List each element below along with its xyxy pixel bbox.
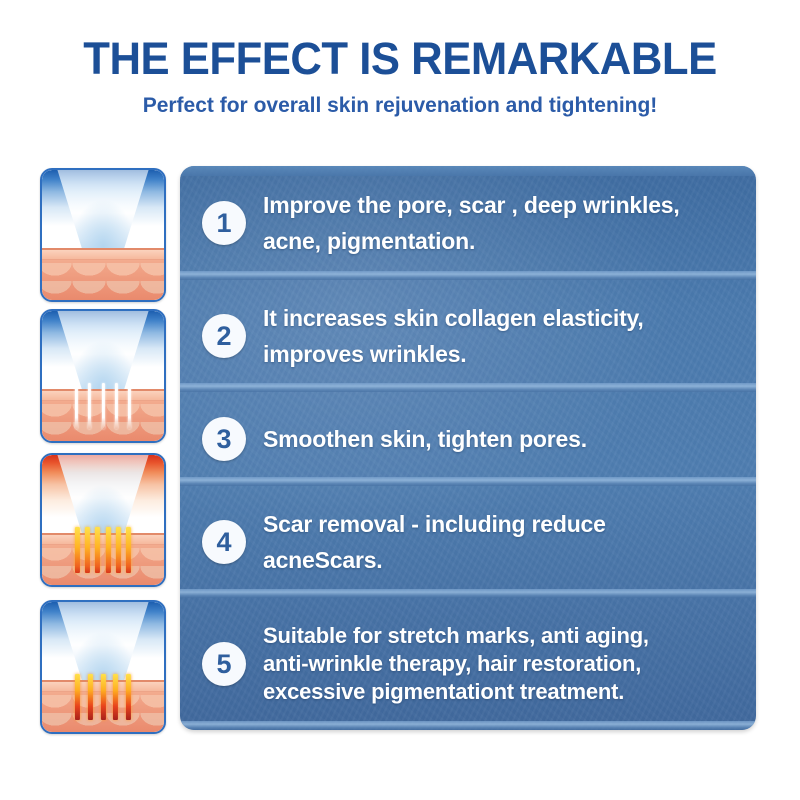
feature-text-line: Suitable for stretch marks, anti aging, (263, 622, 649, 650)
microbeam-group-icon (75, 383, 131, 430)
feature-row: 1 Improve the pore, scar , deep wrinkles… (180, 166, 756, 280)
poster-root: THE EFFECT IS REMARKABLE Perfect for ove… (0, 0, 800, 800)
feature-list-panel: 1 Improve the pore, scar , deep wrinkles… (180, 166, 756, 730)
feature-text-line: acne, pigmentation. (263, 223, 680, 259)
thumbnail-column (40, 168, 166, 736)
thermal-beam-icon (100, 674, 105, 721)
feature-text-line: improves wrinkles. (263, 336, 644, 372)
skin-cross-section-icon (42, 248, 164, 300)
feature-number-badge: 3 (202, 417, 246, 461)
feature-text-line: excessive pigmentationt treatment. (263, 678, 649, 706)
thermal-beam-icon (75, 674, 80, 721)
row-separator (180, 589, 756, 598)
microbeam-icon (101, 383, 104, 430)
thermal-beam-icon (88, 674, 93, 721)
thermal-beam-icon (75, 527, 80, 574)
thermal-beam-icon (113, 674, 118, 721)
row-separator (180, 477, 756, 486)
microbeam-icon (128, 383, 131, 430)
feature-text-line: anti-wrinkle therapy, hair restoration, (263, 650, 649, 678)
thermal-beam-icon (106, 527, 111, 574)
feature-row: 3 Smoothen skin, tighten pores. (180, 392, 756, 486)
feature-text: Scar removal - including reduce acneScar… (263, 506, 606, 578)
feature-row: 4 Scar removal - including reduce acneSc… (180, 486, 756, 598)
feature-rows: 1 Improve the pore, scar , deep wrinkles… (180, 166, 756, 730)
feature-text-line: Improve the pore, scar , deep wrinkles, (263, 187, 680, 223)
row-separator (180, 271, 756, 280)
feature-text: It increases skin collagen elasticity, i… (263, 300, 644, 372)
feature-text-line: It increases skin collagen elasticity, (263, 300, 644, 336)
thermal-beam-icon (126, 527, 131, 574)
row-separator (180, 721, 756, 730)
page-subtitle: Perfect for overall skin rejuvenation an… (0, 93, 800, 119)
microbeam-group-icon (75, 527, 131, 574)
feature-text: Suitable for stretch marks, anti aging, … (263, 622, 649, 706)
feature-text-line: acneScars. (263, 542, 606, 578)
feature-number-badge: 2 (202, 314, 246, 358)
header: THE EFFECT IS REMARKABLE Perfect for ove… (0, 34, 800, 119)
thumbnail-1-laser-cone-on-skin (40, 168, 166, 302)
microbeam-group-icon (75, 674, 131, 721)
feature-row: 2 It increases skin collagen elasticity,… (180, 280, 756, 392)
feature-number-badge: 4 (202, 520, 246, 564)
feature-text: Smoothen skin, tighten pores. (263, 421, 587, 457)
thumbnail-2-laser-cone-with-white-microbeams (40, 309, 166, 443)
thermal-beam-icon (116, 527, 121, 574)
microbeam-icon (75, 383, 78, 430)
feature-number-badge: 1 (202, 201, 246, 245)
feature-number-badge: 5 (202, 642, 246, 686)
page-title: THE EFFECT IS REMARKABLE (12, 34, 788, 84)
dermis-wave-lower (42, 281, 164, 300)
row-separator (180, 383, 756, 392)
feature-row: 5 Suitable for stretch marks, anti aging… (180, 598, 756, 730)
feature-text-line: Scar removal - including reduce (263, 506, 606, 542)
feature-text-line: Smoothen skin, tighten pores. (263, 421, 587, 457)
thumbnail-4-laser-cone-with-deep-thermal-beams (40, 600, 166, 734)
microbeam-icon (115, 383, 118, 430)
thermal-beam-icon (85, 527, 90, 574)
microbeam-icon (88, 383, 91, 430)
epidermis-layer (42, 250, 164, 260)
thermal-beam-icon (95, 527, 100, 574)
thumbnail-3-laser-cone-hot-red-with-yellow-beams (40, 453, 166, 587)
feature-text: Improve the pore, scar , deep wrinkles, … (263, 187, 680, 259)
thermal-beam-icon (126, 674, 131, 721)
